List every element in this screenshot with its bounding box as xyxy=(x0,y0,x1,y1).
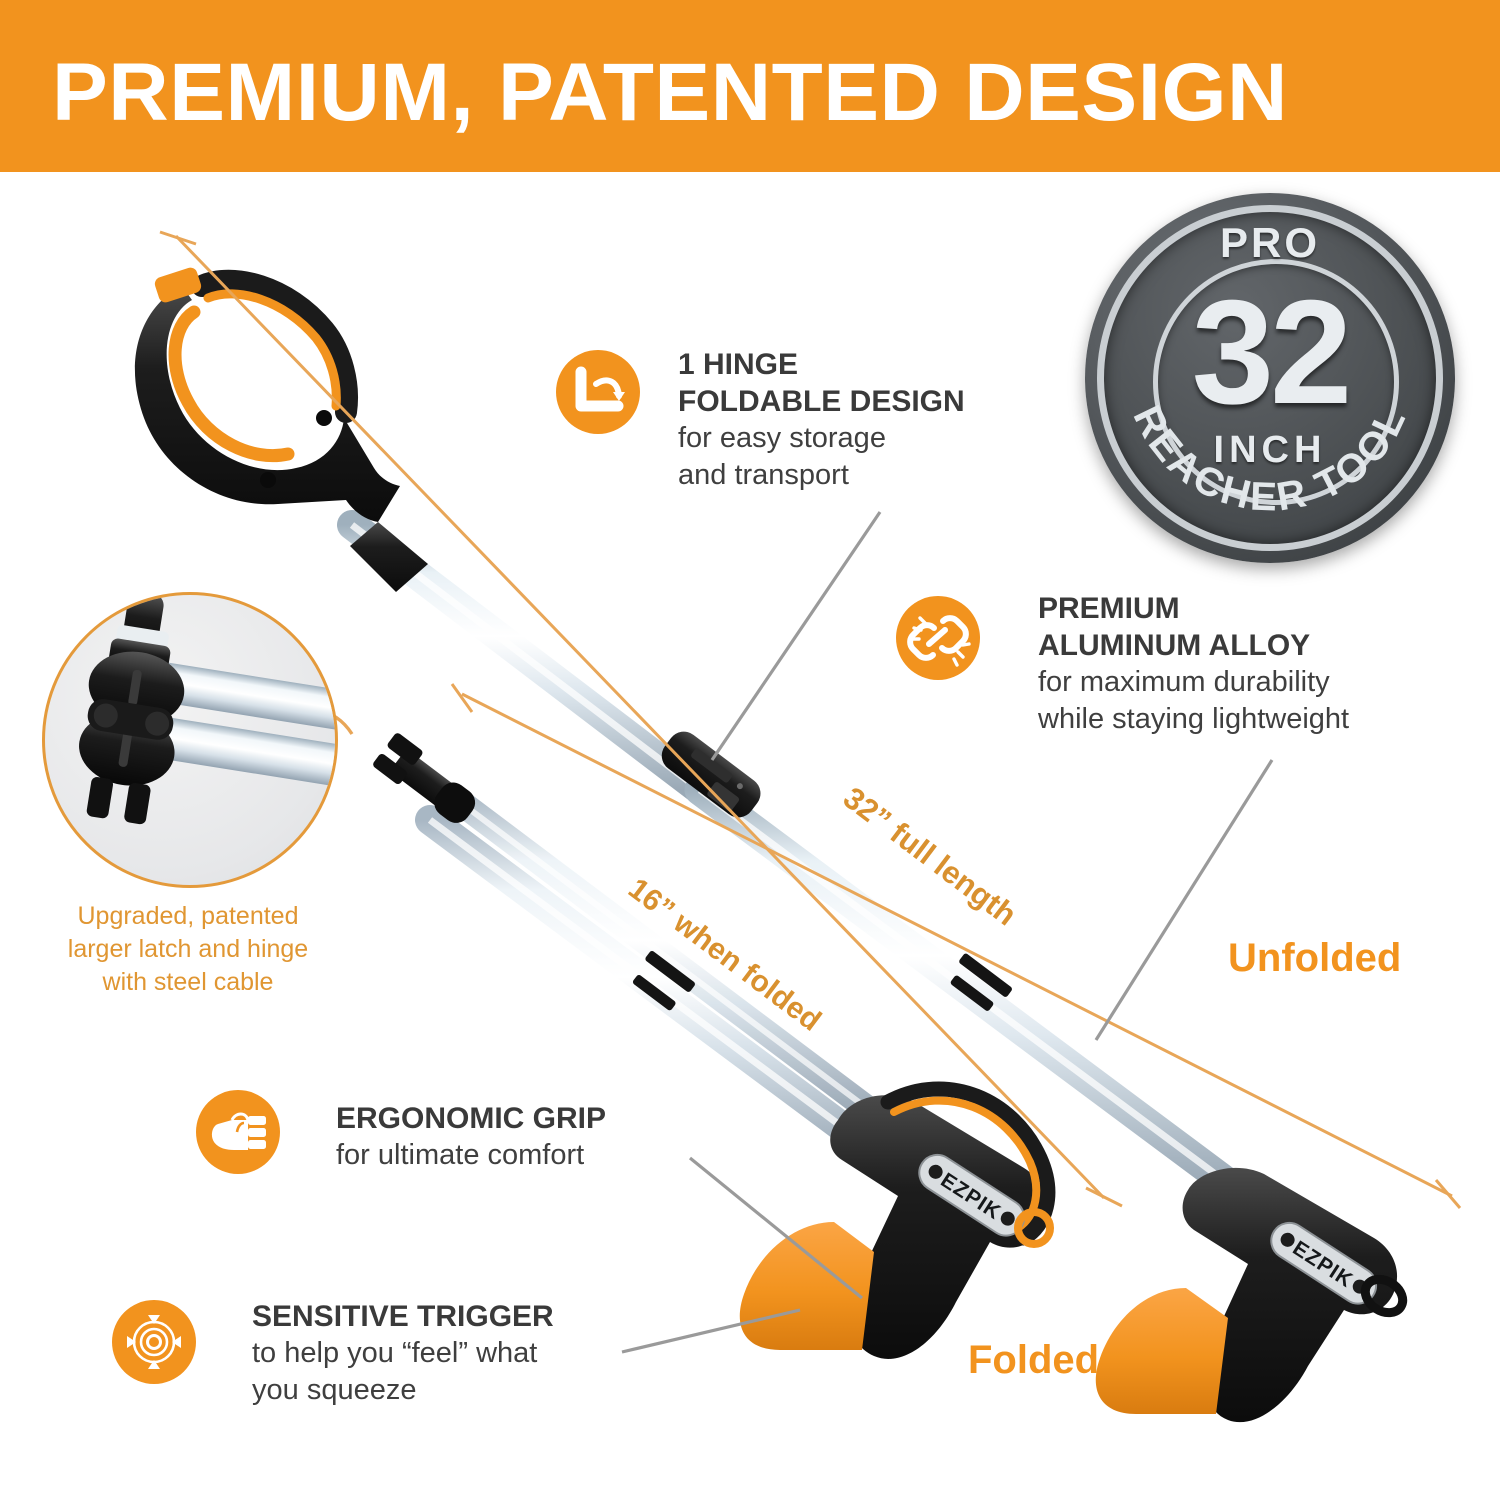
inset-caption: Upgraded, patented larger latch and hing… xyxy=(28,900,348,999)
dimension-full-length: 32” full length xyxy=(836,780,1023,933)
feature-foldable-sub-1: for easy storage xyxy=(678,420,965,457)
label-unfolded: Unfolded xyxy=(1228,936,1401,981)
feature-aluminum-sub-1: for maximum durability xyxy=(1038,664,1349,701)
label-folded: Folded xyxy=(968,1338,1099,1383)
chain-link-icon xyxy=(896,596,980,680)
svg-text:EZPIK: EZPIK xyxy=(937,1169,1006,1225)
svg-text:EZPIK: EZPIK xyxy=(1289,1237,1358,1293)
fist-grip-icon xyxy=(196,1090,280,1174)
pro-badge: PRO 32 INCH REACHER TOOL xyxy=(1085,193,1455,563)
feature-aluminum-sub-2: while staying lightweight xyxy=(1038,701,1349,738)
inset-caption-line1: Upgraded, patented xyxy=(28,900,348,933)
folded-reacher: EZPIK xyxy=(372,732,1050,1359)
unfolded-handle: EZPIK xyxy=(1096,1168,1409,1422)
feature-foldable-heading-1: 1 HINGE xyxy=(678,346,965,383)
inset-caption-line2: larger latch and hinge xyxy=(28,933,348,966)
gripper-jaw xyxy=(135,266,428,592)
foldable-hinge-icon xyxy=(556,350,640,434)
feature-trigger-sub-2: you squeeze xyxy=(252,1372,554,1409)
folded-handle: EZPIK xyxy=(740,1089,1050,1359)
target-sensitivity-icon xyxy=(112,1300,196,1384)
badge-bottom-arc: REACHER TOOL xyxy=(1085,193,1455,563)
feature-grip-sub-1: for ultimate comfort xyxy=(336,1137,606,1174)
infographic-canvas: EZPIK xyxy=(0,0,1500,1488)
dimension-folded-length: 16” when folded xyxy=(622,872,828,1039)
feature-foldable-sub-2: and transport xyxy=(678,457,965,494)
badge-bottom-text: REACHER TOOL xyxy=(1125,399,1416,520)
feature-trigger-sub-1: to help you “feel” what xyxy=(252,1335,554,1372)
hinge-detail-magnifier xyxy=(42,592,338,888)
page-title: PREMIUM, PATENTED DESIGN xyxy=(52,46,1288,140)
header-banner: PREMIUM, PATENTED DESIGN xyxy=(0,0,1500,172)
feature-grip-heading-1: ERGONOMIC GRIP xyxy=(336,1100,606,1137)
inset-caption-line3: with steel cable xyxy=(28,966,348,999)
feature-aluminum-heading-1: PREMIUM xyxy=(1038,590,1349,627)
feature-trigger-heading-1: SENSITIVE TRIGGER xyxy=(252,1298,554,1335)
feature-foldable-heading-2: FOLDABLE DESIGN xyxy=(678,383,965,420)
feature-aluminum-heading-2: ALUMINUM ALLOY xyxy=(1038,627,1349,664)
